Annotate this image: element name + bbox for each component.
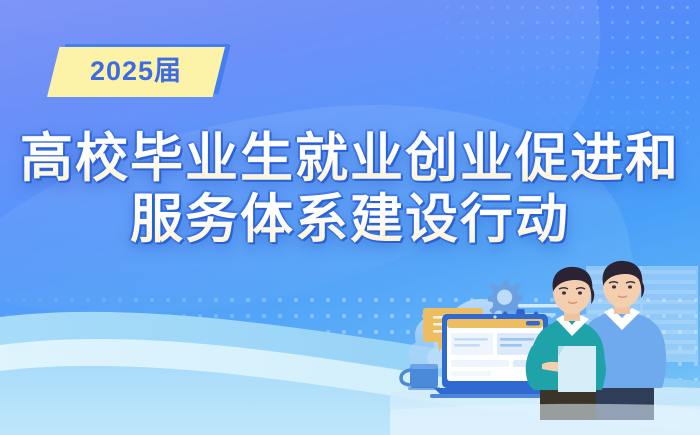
title-line-2: 服务体系建设行动 — [0, 189, 700, 250]
year-badge-plate: 2025届 — [47, 47, 225, 97]
illustration-graduates-scene — [390, 260, 700, 435]
banner-root: 2025届 高校毕业生就业创业促进和 服务体系建设行动 — [0, 0, 700, 435]
desk-foreground — [390, 404, 700, 435]
page-title: 高校毕业生就业创业促进和 服务体系建设行动 — [0, 128, 700, 251]
title-line-1: 高校毕业生就业创业促进和 — [0, 128, 700, 189]
document-sheet-icon — [558, 346, 596, 392]
year-badge-label: 2025届 — [90, 58, 182, 85]
year-badge: 2025届 — [47, 47, 237, 99]
coffee-mug-icon — [401, 364, 440, 390]
